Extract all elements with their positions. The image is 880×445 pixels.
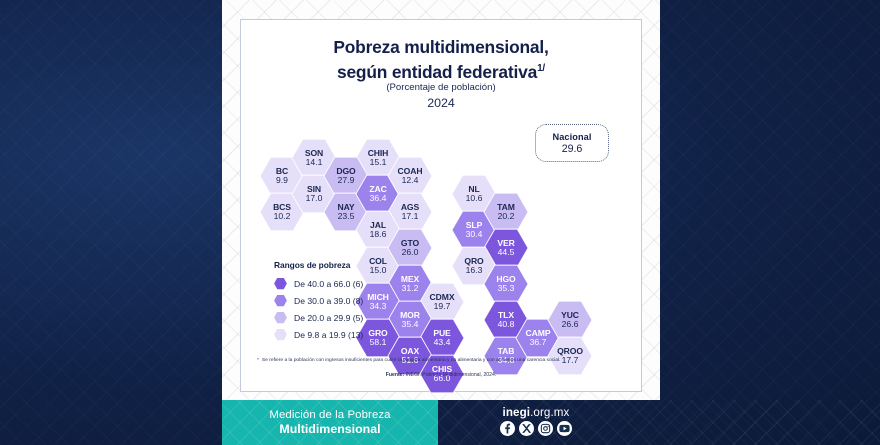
source-text: INEGI. Pobreza Multidimensional, 2024. <box>404 372 496 378</box>
state-value: 58.1 <box>370 338 387 347</box>
left-navy-panel <box>0 0 222 400</box>
state-value: 15.1 <box>370 158 387 167</box>
legend-title: Rangos de pobreza <box>274 260 363 270</box>
state-value: 17.0 <box>306 194 323 203</box>
state-value: 20.2 <box>498 212 515 221</box>
legend-label: De 20.0 a 29.9 (5) <box>294 313 363 323</box>
hex-body: GTO26.0 <box>388 229 432 267</box>
state-value: 18.6 <box>370 230 387 239</box>
state-value: 17.1 <box>402 212 419 221</box>
hex-state-qroo[interactable]: QROO17.7 <box>547 336 593 376</box>
legend-item[interactable]: De 40.0 a 66.0 (6) <box>274 275 363 292</box>
hex-body: COAH12.4 <box>388 157 432 195</box>
state-value: 9.9 <box>276 176 288 185</box>
legend-item[interactable]: De 20.0 a 29.9 (5) <box>274 309 363 326</box>
state-value: 10.2 <box>274 212 291 221</box>
footnote-marker: * <box>257 358 259 363</box>
state-value: 36.7 <box>530 338 547 347</box>
state-value: 35.4 <box>402 320 419 329</box>
website-url-rest: .org.mx <box>530 406 569 419</box>
state-value: 16.3 <box>466 266 483 275</box>
website-url-bold: inegi <box>503 406 531 419</box>
banner-teal-section: Medición de la Pobreza Multidimensional <box>222 400 438 445</box>
legend-hexagon-swatch <box>274 295 287 307</box>
hex-state-gto[interactable]: GTO26.0 <box>387 228 433 268</box>
content-panel: Pobreza multidimensional, según entidad … <box>240 19 642 392</box>
state-value: 40.8 <box>498 320 515 329</box>
state-value: 34.3 <box>370 302 387 311</box>
hex-body: QROO17.7 <box>548 337 592 375</box>
state-value: 43.4 <box>434 338 451 347</box>
footnote-text: Se refiere a la población con ingresos i… <box>262 358 561 363</box>
banner-navy-section: inegi.org.mx <box>438 400 880 445</box>
bottom-banner: Medición de la Pobreza Multidimensional … <box>0 400 880 445</box>
social-links <box>500 421 572 436</box>
hex-body: HGO35.3 <box>484 265 528 303</box>
banner-line-1: Medición de la Pobreza <box>269 409 390 421</box>
legend-hexagon-swatch <box>274 329 287 341</box>
state-value: 26.6 <box>562 320 579 329</box>
state-value: 15.0 <box>370 266 387 275</box>
hex-state-coah[interactable]: COAH12.4 <box>387 156 433 196</box>
banner-line-2: Multidimensional <box>279 422 380 436</box>
state-value: 14.1 <box>306 158 323 167</box>
instagram-icon[interactable] <box>538 421 553 436</box>
infographic-stage: Pobreza multidimensional, según entidad … <box>0 0 880 445</box>
source-line: Fuente: INEGI. Pobreza Multidimensional,… <box>241 372 641 378</box>
hex-state-hgo[interactable]: HGO35.3 <box>483 264 529 304</box>
youtube-icon[interactable] <box>557 421 572 436</box>
state-value: 27.9 <box>338 176 355 185</box>
legend: Rangos de pobreza De 40.0 a 66.0 (6)De 3… <box>274 260 363 343</box>
hex-body: YUC26.6 <box>548 301 592 339</box>
state-value: 30.4 <box>466 230 483 239</box>
state-value: 35.3 <box>498 284 515 293</box>
state-value: 10.6 <box>466 194 483 203</box>
legend-hexagon-swatch <box>274 278 287 290</box>
state-value: 36.4 <box>370 194 387 203</box>
website-url[interactable]: inegi.org.mx <box>503 406 570 419</box>
facebook-icon[interactable] <box>500 421 515 436</box>
footnote: *Se refiere a la población con ingresos … <box>257 358 627 364</box>
hex-state-tam[interactable]: TAM20.2 <box>483 192 529 232</box>
legend-rows: De 40.0 a 66.0 (6)De 30.0 a 39.0 (8)De 2… <box>274 275 363 343</box>
state-value: 31.2 <box>402 284 419 293</box>
legend-label: De 40.0 a 66.0 (6) <box>294 279 363 289</box>
hex-body: TAM20.2 <box>484 193 528 231</box>
state-value: 12.4 <box>402 176 419 185</box>
legend-item[interactable]: De 30.0 a 39.0 (8) <box>274 292 363 309</box>
banner-contact: inegi.org.mx <box>500 406 572 436</box>
legend-hexagon-swatch <box>274 312 287 324</box>
legend-label: De 9.8 a 19.9 (13) <box>294 330 363 340</box>
legend-label: De 30.0 a 39.0 (8) <box>294 296 363 306</box>
state-value: 19.7 <box>434 302 451 311</box>
source-label: Fuente: <box>386 372 404 378</box>
state-value: 44.5 <box>498 248 515 257</box>
x-twitter-icon[interactable] <box>519 421 534 436</box>
legend-item[interactable]: De 9.8 a 19.9 (13) <box>274 326 363 343</box>
state-value: 23.5 <box>338 212 355 221</box>
infographic-card: Pobreza multidimensional, según entidad … <box>222 0 660 400</box>
hex-state-yuc[interactable]: YUC26.6 <box>547 300 593 340</box>
state-value: 26.0 <box>402 248 419 257</box>
